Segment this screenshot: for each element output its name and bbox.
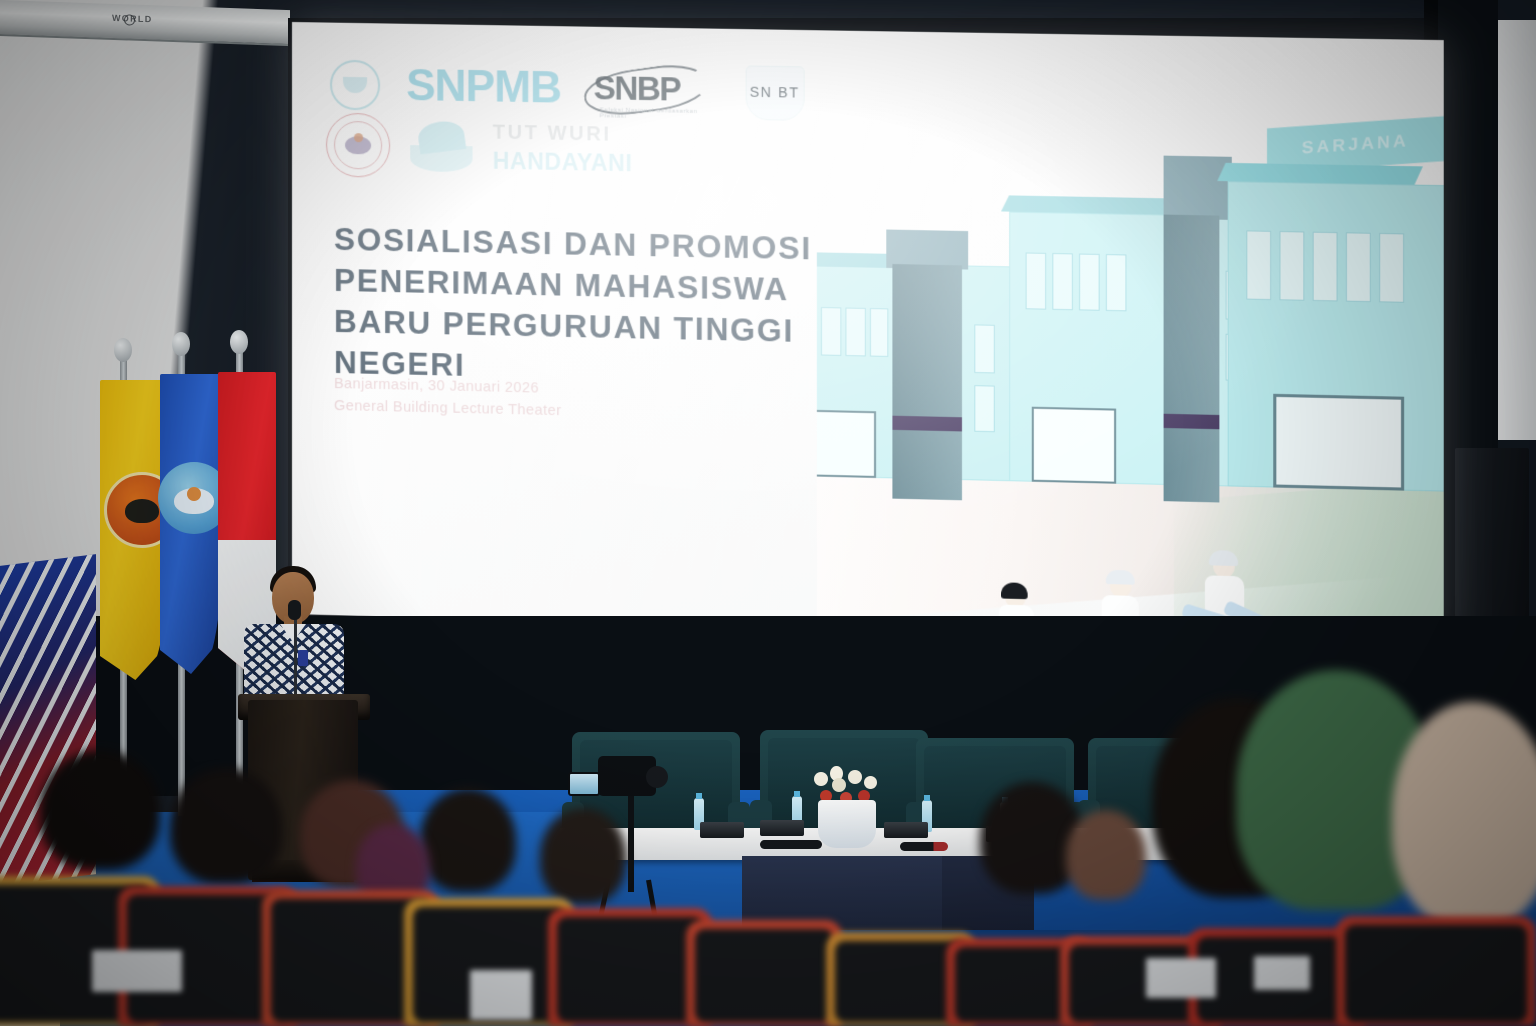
flagpole-finial	[172, 332, 190, 356]
ministry-wordmark: TUT WURI HANDAYANI	[493, 121, 633, 177]
camera-lcd-screen	[568, 772, 600, 796]
tut-wuri-handayani-icon	[404, 115, 478, 179]
name-plate	[760, 820, 804, 836]
camera-lens-icon	[646, 766, 668, 788]
snbp-wordmark: SNBP	[593, 69, 680, 109]
name-plate	[986, 826, 1030, 842]
snbt-logo: SN BT	[735, 63, 814, 121]
podium-base	[252, 860, 354, 882]
sasirangan-banner	[0, 554, 96, 886]
illustration-building-right: SARJANA	[1228, 181, 1444, 492]
stage-riser	[620, 930, 1180, 990]
name-plate	[884, 822, 928, 838]
microphone-stand	[294, 608, 297, 702]
slide-illustration: SARJANA	[817, 30, 1444, 645]
tripod-column	[628, 792, 634, 892]
table-microphone	[760, 840, 822, 849]
slide-subtitle: Banjarmasin, 30 Januari 2026 General Bui…	[334, 373, 758, 427]
screenshot-root: WORLD SNPMB SNBP Seleksi Nasional Berdas…	[0, 0, 1536, 1026]
snpmb-wordmark: SNPMB	[406, 61, 561, 114]
slide-logo-row-secondary: TUT WURI HANDAYANI	[326, 113, 632, 183]
microphone-icon	[288, 600, 301, 620]
ministry-line-2: HANDAYANI	[493, 147, 633, 177]
name-plate	[700, 822, 744, 838]
right-doorway	[1498, 20, 1536, 440]
snbp-logo: SNBP Seleksi Nasional Berdasarkan Presta…	[587, 61, 709, 119]
snbt-wordmark: SN BT	[750, 84, 800, 101]
illustration-building-center	[1009, 212, 1254, 487]
slide-title: SOSIALISASI DAN PROMOSI PENERIMAAN MAHAS…	[334, 219, 901, 396]
roller-brand-label: WORLD	[112, 13, 153, 24]
snpmb-icon	[330, 60, 380, 111]
flagpole-finial	[114, 338, 132, 362]
table-microphone	[900, 842, 948, 851]
slide-logo-row-primary: SNPMB SNBP Seleksi Nasional Berdasarkan …	[330, 57, 815, 121]
podium	[248, 700, 358, 880]
ministry-line-1: TUT WURI	[493, 121, 633, 147]
flagpole-finial	[230, 330, 248, 354]
building-sign-label: SARJANA	[1302, 131, 1409, 159]
university-seal-icon	[326, 113, 390, 178]
flower-vase	[818, 800, 876, 848]
presentation-slide: SNPMB SNBP Seleksi Nasional Berdasarkan …	[292, 22, 1444, 645]
speaker-name-badge	[298, 650, 308, 666]
